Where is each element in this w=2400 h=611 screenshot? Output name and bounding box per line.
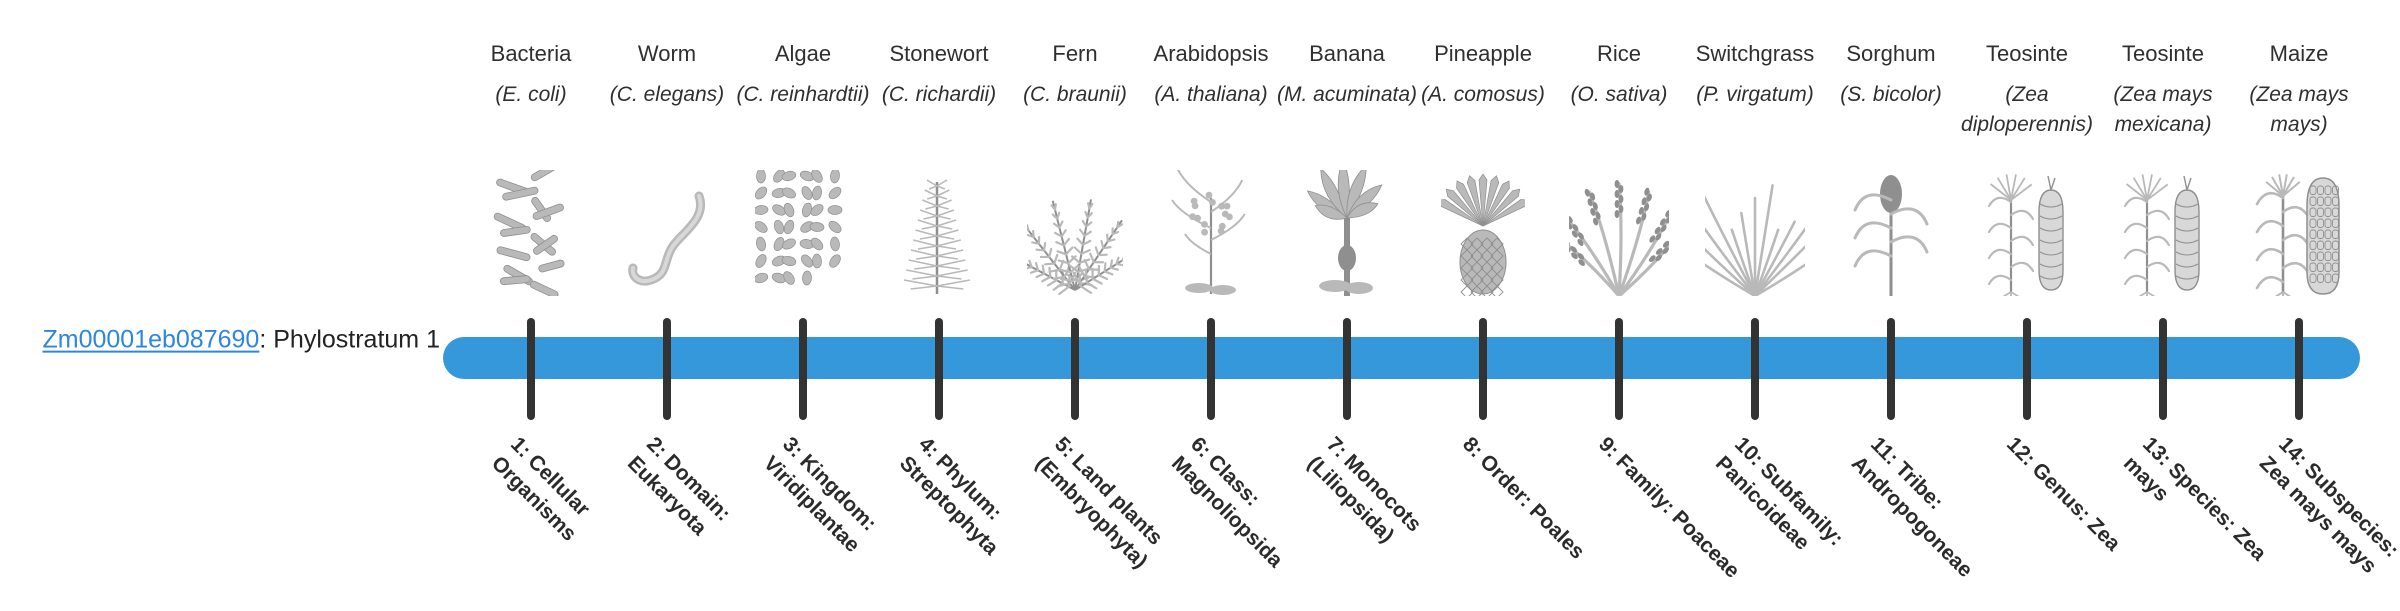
banana-plant-icon [1279, 168, 1415, 296]
species-scientific-name: (C. reinhardtii) [729, 80, 877, 110]
nematode-worm-icon [599, 168, 735, 296]
species-scientific-name: (C. braunii) [1001, 80, 1149, 110]
species-column: Arabidopsis(A. thaliana)6: Class: Magnol… [1143, 0, 1279, 580]
species-name-block: Teosinte(Zea mays mexicana) [2089, 38, 2237, 140]
species-name-block: Worm(C. elegans) [593, 38, 741, 110]
species-scientific-name: (M. acuminata) [1273, 80, 1421, 110]
fern-frond-icon [1007, 168, 1143, 296]
species-common-name: Teosinte [1953, 38, 2101, 69]
phylostratum-tick[interactable] [2295, 318, 2303, 420]
species-column: Teosinte(Zea diploperennis)12: Genus: Ze… [1959, 0, 2095, 580]
phylostratum-tick[interactable] [663, 318, 671, 420]
species-common-name: Banana [1273, 38, 1421, 69]
species-scientific-name: (Zea diploperennis) [1953, 80, 2101, 140]
phylostratum-tick[interactable] [527, 318, 535, 420]
species-common-name: Teosinte [2089, 38, 2237, 69]
species-column: Fern(C. braunii)5: Land plants (Embryoph… [1007, 0, 1143, 580]
species-scientific-name: (C. richardii) [865, 80, 1013, 110]
species-name-block: Maize(Zea mays mays) [2225, 38, 2373, 140]
gene-id-link[interactable]: Zm00001eb087690 [42, 326, 259, 354]
phylostratigraphy-figure: Zm00001eb087690: Phylostratum 1 Bacteria… [0, 0, 2400, 580]
gene-separator: : [259, 326, 273, 354]
phylostratum-tick[interactable] [1071, 318, 1079, 420]
species-name-block: Arabidopsis(A. thaliana) [1137, 38, 1285, 110]
species-column: Rice(O. sativa)9: Family: Poaceae [1551, 0, 1687, 580]
species-common-name: Fern [1001, 38, 1149, 69]
algae-cells-icon [735, 168, 871, 296]
species-column: Banana(M. acuminata)7: Monocots (Liliops… [1279, 0, 1415, 580]
phylostratum-tick[interactable] [2023, 318, 2031, 420]
species-scientific-name: (P. virgatum) [1681, 80, 1829, 110]
phylostratum-tick[interactable] [1751, 318, 1759, 420]
species-scientific-name: (E. coli) [457, 80, 605, 110]
species-scientific-name: (Zea mays mays) [2225, 80, 2373, 140]
species-scientific-name: (A. thaliana) [1137, 80, 1285, 110]
species-common-name: Bacteria [457, 38, 605, 69]
bacteria-rods-icon [463, 168, 599, 296]
species-name-block: Fern(C. braunii) [1001, 38, 1149, 110]
species-common-name: Stonewort [865, 38, 1013, 69]
maize-plant-ear-icon [2231, 168, 2367, 296]
species-scientific-name: (S. bicolor) [1817, 80, 1965, 110]
species-column: Maize(Zea mays mays)14: Subspecies: Zea … [2231, 0, 2367, 580]
species-column: Algae(C. reinhardtii)3: Kingdom: Viridip… [735, 0, 871, 580]
species-column: Bacteria(E. coli)1: Cellular Organisms [463, 0, 599, 580]
phylostratum-tick[interactable] [1343, 318, 1351, 420]
species-name-block: Stonewort(C. richardii) [865, 38, 1013, 110]
switchgrass-icon [1687, 168, 1823, 296]
sorghum-icon [1823, 168, 1959, 296]
phylostratum-tick[interactable] [935, 318, 943, 420]
species-common-name: Algae [729, 38, 877, 69]
species-column: Switchgrass(P. virgatum)10: Subfamily: P… [1687, 0, 1823, 580]
phylostratum-tick[interactable] [1887, 318, 1895, 420]
phylostratum-tick[interactable] [1479, 318, 1487, 420]
species-name-block: Banana(M. acuminata) [1273, 38, 1421, 110]
species-column: Worm(C. elegans)2: Domain: Eukaryota [599, 0, 735, 580]
species-column: Pineapple(A. comosus)8: Order: Poales [1415, 0, 1551, 580]
phylostratum-tick[interactable] [1207, 318, 1215, 420]
species-common-name: Rice [1545, 38, 1693, 69]
species-track: Bacteria(E. coli)1: Cellular OrganismsWo… [463, 0, 2368, 580]
species-name-block: Switchgrass(P. virgatum) [1681, 38, 1829, 110]
phylostratum-tick[interactable] [2159, 318, 2167, 420]
phylostratum-tick[interactable] [1615, 318, 1623, 420]
species-name-block: Sorghum(S. bicolor) [1817, 38, 1965, 110]
phylostratum-value: Phylostratum 1 [273, 326, 440, 354]
species-column: Stonewort(C. richardii)4: Phylum: Strept… [871, 0, 1007, 580]
teosinte-plant-ear-icon [1959, 168, 2095, 296]
stonewort-icon [871, 168, 1007, 296]
phylostratum-tick[interactable] [799, 318, 807, 420]
species-scientific-name: (Zea mays mexicana) [2089, 80, 2237, 140]
species-common-name: Pineapple [1409, 38, 1557, 69]
species-name-block: Algae(C. reinhardtii) [729, 38, 877, 110]
species-scientific-name: (O. sativa) [1545, 80, 1693, 110]
species-scientific-name: (A. comosus) [1409, 80, 1557, 110]
rice-plant-icon [1551, 168, 1687, 296]
species-name-block: Pineapple(A. comosus) [1409, 38, 1557, 110]
gene-phylostratum-label: Zm00001eb087690: Phylostratum 1 [40, 326, 440, 355]
species-common-name: Maize [2225, 38, 2373, 69]
teosinte-plant-ear-icon [2095, 168, 2231, 296]
species-common-name: Sorghum [1817, 38, 1965, 69]
arabidopsis-icon [1143, 168, 1279, 296]
species-common-name: Arabidopsis [1137, 38, 1285, 69]
pineapple-icon [1415, 168, 1551, 296]
species-name-block: Bacteria(E. coli) [457, 38, 605, 110]
species-name-block: Teosinte(Zea diploperennis) [1953, 38, 2101, 140]
species-column: Teosinte(Zea mays mexicana)13: Species: … [2095, 0, 2231, 580]
species-common-name: Worm [593, 38, 741, 69]
species-name-block: Rice(O. sativa) [1545, 38, 1693, 110]
species-scientific-name: (C. elegans) [593, 80, 741, 110]
species-column: Sorghum(S. bicolor)11: Tribe: Andropogon… [1823, 0, 1959, 580]
species-common-name: Switchgrass [1681, 38, 1829, 69]
